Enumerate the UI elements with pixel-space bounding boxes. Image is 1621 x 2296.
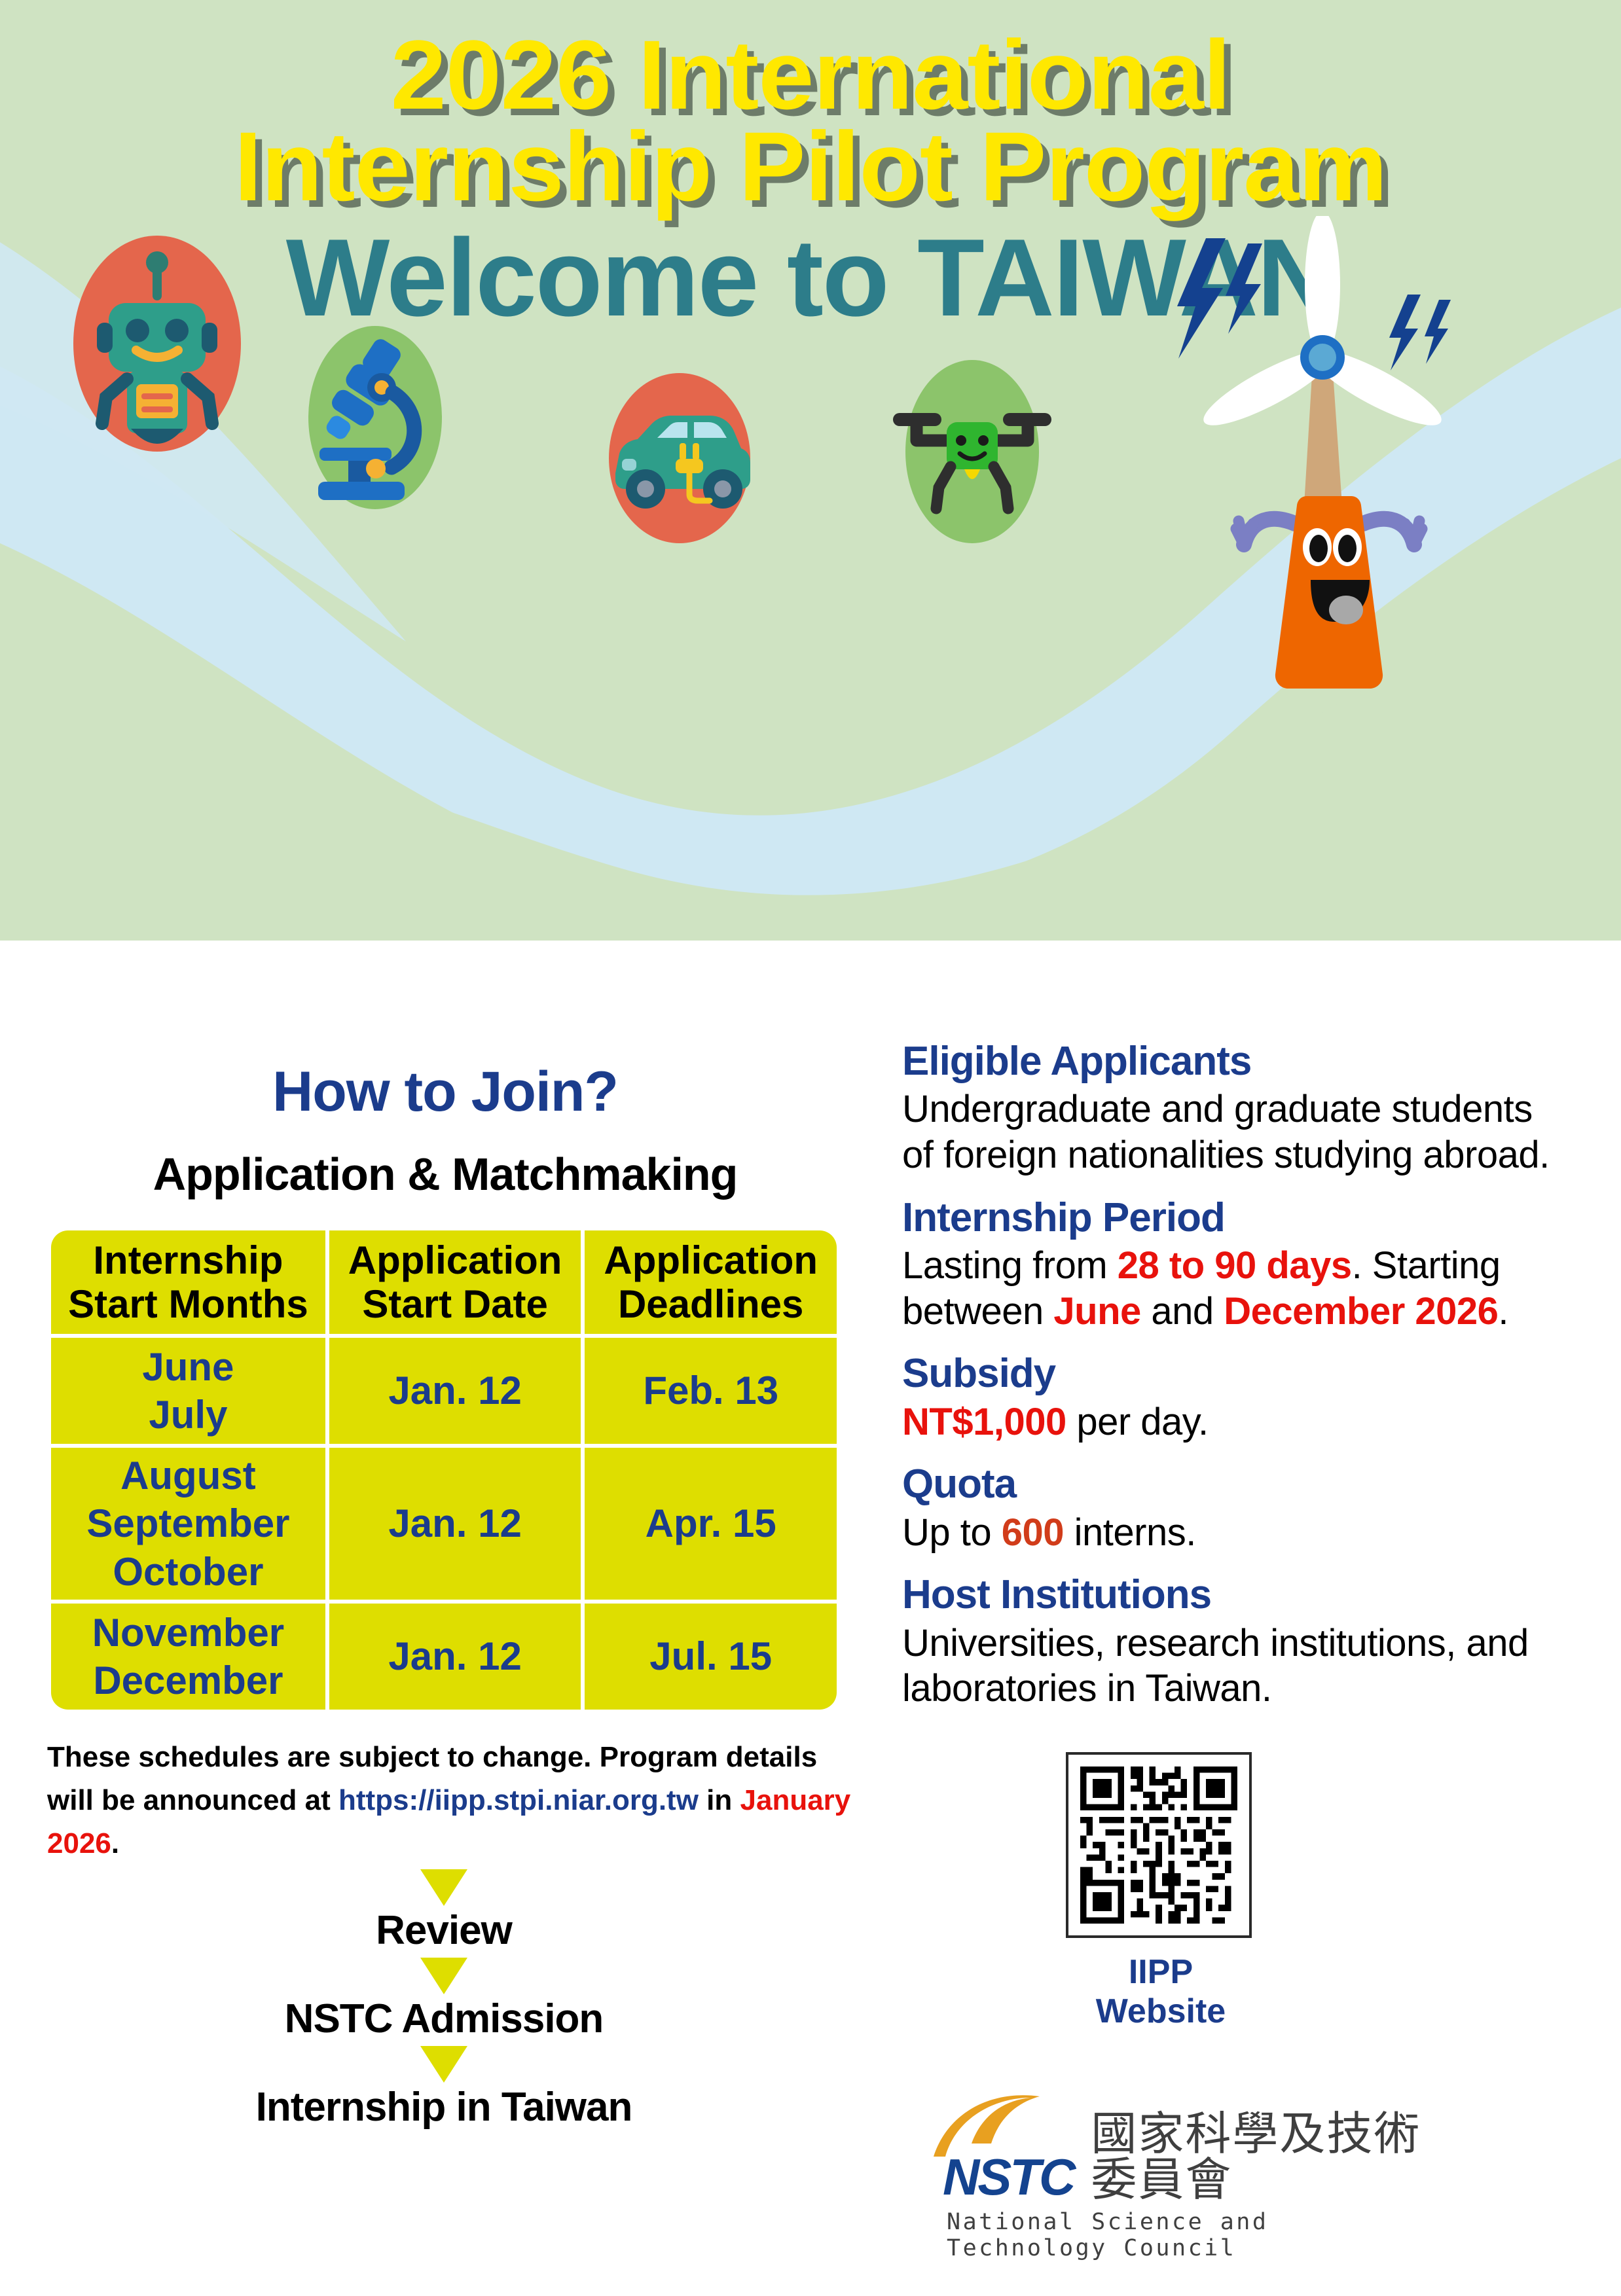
- body-seg: per day.: [1066, 1401, 1209, 1443]
- nstc-chinese-name: 國家科學及技術委員會: [1091, 2111, 1440, 2202]
- col-header-application-deadlines: Application Deadlines: [585, 1230, 837, 1334]
- schedule-note: These schedules are subject to change. P…: [47, 1736, 865, 1865]
- cell-deadline: Jul. 15: [585, 1604, 837, 1710]
- body-seg: interns.: [1064, 1511, 1196, 1554]
- cell-start-date: Jan. 12: [329, 1604, 581, 1710]
- body-seg: .: [1498, 1290, 1508, 1333]
- body-seg-highlight: December 2026: [1224, 1290, 1498, 1333]
- month-item: September: [51, 1499, 325, 1547]
- cell-start-date: Jan. 12: [329, 1448, 581, 1600]
- qr-code-icon[interactable]: [1066, 1752, 1252, 1938]
- poster-title-line-1: 2026 International: [0, 25, 1621, 125]
- body-seg: Up to: [902, 1511, 1002, 1554]
- section-quota: Quota Up to 600 interns.: [902, 1462, 1563, 1555]
- process-flow: Review NSTC Admission Internship in Taiw…: [47, 1869, 841, 2130]
- table-row: November December Jan. 12 Jul. 15: [51, 1604, 837, 1710]
- arrow-down-icon: [420, 1869, 467, 1906]
- col-header-line-1: Application: [585, 1238, 837, 1282]
- table-header-row: Internship Start Months Application Star…: [51, 1230, 837, 1334]
- section-title: Quota: [902, 1462, 1563, 1507]
- body-seg-highlight: 28 to 90 days: [1118, 1244, 1352, 1287]
- electric-car-icon: [581, 370, 778, 547]
- section-host-institutions: Host Institutions Universities, research…: [902, 1572, 1563, 1712]
- cell-months: November December: [51, 1604, 325, 1710]
- application-matchmaking-heading: Application & Matchmaking: [39, 1148, 851, 1200]
- section-internship-period: Internship Period Lasting from 28 to 90 …: [902, 1195, 1563, 1335]
- robot-icon: [59, 232, 255, 455]
- section-body: Undergraduate and graduate students of f…: [902, 1086, 1563, 1177]
- section-eligible-applicants: Eligible Applicants Undergraduate and gr…: [902, 1039, 1563, 1178]
- microscope-icon: [293, 319, 457, 516]
- month-item: December: [51, 1657, 325, 1704]
- col-header-line-2: Deadlines: [585, 1282, 837, 1326]
- cell-start-date: Jan. 12: [329, 1338, 581, 1444]
- body-seg-highlight: NT$1,000: [902, 1401, 1066, 1443]
- iipp-website-link[interactable]: https://iipp.stpi.niar.org.tw: [338, 1784, 699, 1816]
- section-body: Up to 600 interns.: [902, 1510, 1563, 1556]
- body-seg-highlight: 600: [1002, 1511, 1064, 1554]
- col-header-line-2: Start Date: [329, 1282, 581, 1326]
- qr-code-block[interactable]: IIPP Website: [1066, 1752, 1256, 2031]
- section-subsidy: Subsidy NT$1,000 per day.: [902, 1351, 1563, 1444]
- drone-icon: [871, 357, 1074, 547]
- left-column: How to Join? Application & Matchmaking I…: [39, 941, 851, 2130]
- note-part-3: .: [111, 1827, 119, 1859]
- section-title: Subsidy: [902, 1351, 1563, 1396]
- wind-turbine-mascot: [1126, 216, 1519, 694]
- cell-months: June July: [51, 1338, 325, 1444]
- poster-title-line-2: Internship Pilot Program: [0, 117, 1621, 217]
- body-seg: and: [1141, 1290, 1224, 1333]
- arrow-down-icon: [420, 2046, 467, 2083]
- how-to-join-heading: How to Join?: [39, 1060, 851, 1124]
- month-item: August: [51, 1452, 325, 1499]
- col-header-internship-start-months: Internship Start Months: [51, 1230, 325, 1334]
- body-area: How to Join? Application & Matchmaking I…: [0, 941, 1621, 2296]
- month-item: June: [51, 1343, 325, 1391]
- section-body: NT$1,000 per day.: [902, 1399, 1563, 1445]
- col-header-line-1: Application: [329, 1238, 581, 1282]
- flow-step-review: Review: [47, 1907, 841, 1954]
- month-item: November: [51, 1609, 325, 1657]
- body-seg-highlight: June: [1053, 1290, 1140, 1333]
- section-title: Internship Period: [902, 1195, 1563, 1240]
- col-header-line-1: Internship: [51, 1238, 325, 1282]
- table-row: June July Jan. 12 Feb. 13: [51, 1338, 837, 1444]
- section-title: Host Institutions: [902, 1572, 1563, 1617]
- note-part-2: in: [699, 1784, 740, 1816]
- col-header-application-start-date: Application Start Date: [329, 1230, 581, 1334]
- col-header-line-2: Start Months: [51, 1282, 325, 1326]
- schedule-table: Internship Start Months Application Star…: [47, 1227, 841, 1713]
- nstc-swoosh-icon: [931, 2089, 1127, 2161]
- flow-step-nstc-admission: NSTC Admission: [47, 1996, 841, 2042]
- section-body: Universities, research institutions, and…: [902, 1621, 1563, 1712]
- nstc-logo: NSTC 國家科學及技術委員會 National Science and Tec…: [943, 2111, 1440, 2209]
- qr-code-label: IIPP Website: [1066, 1952, 1256, 2031]
- section-title: Eligible Applicants: [902, 1039, 1563, 1084]
- nstc-english-name: National Science and Technology Council: [947, 2209, 1440, 2261]
- cell-deadline: Apr. 15: [585, 1448, 837, 1600]
- right-column: Eligible Applicants Undergraduate and gr…: [902, 1039, 1563, 1729]
- header-banner: 2026 International Internship Pilot Prog…: [0, 0, 1621, 941]
- body-seg: Lasting from: [902, 1244, 1118, 1287]
- month-item: October: [51, 1548, 325, 1596]
- cell-months: August September October: [51, 1448, 325, 1600]
- cell-deadline: Feb. 13: [585, 1338, 837, 1444]
- arrow-down-icon: [420, 1958, 467, 1994]
- month-item: July: [51, 1391, 325, 1439]
- section-body: Lasting from 28 to 90 days. Starting bet…: [902, 1243, 1563, 1334]
- table-row: August September October Jan. 12 Apr. 15: [51, 1448, 837, 1600]
- flow-step-internship-in-taiwan: Internship in Taiwan: [47, 2084, 841, 2130]
